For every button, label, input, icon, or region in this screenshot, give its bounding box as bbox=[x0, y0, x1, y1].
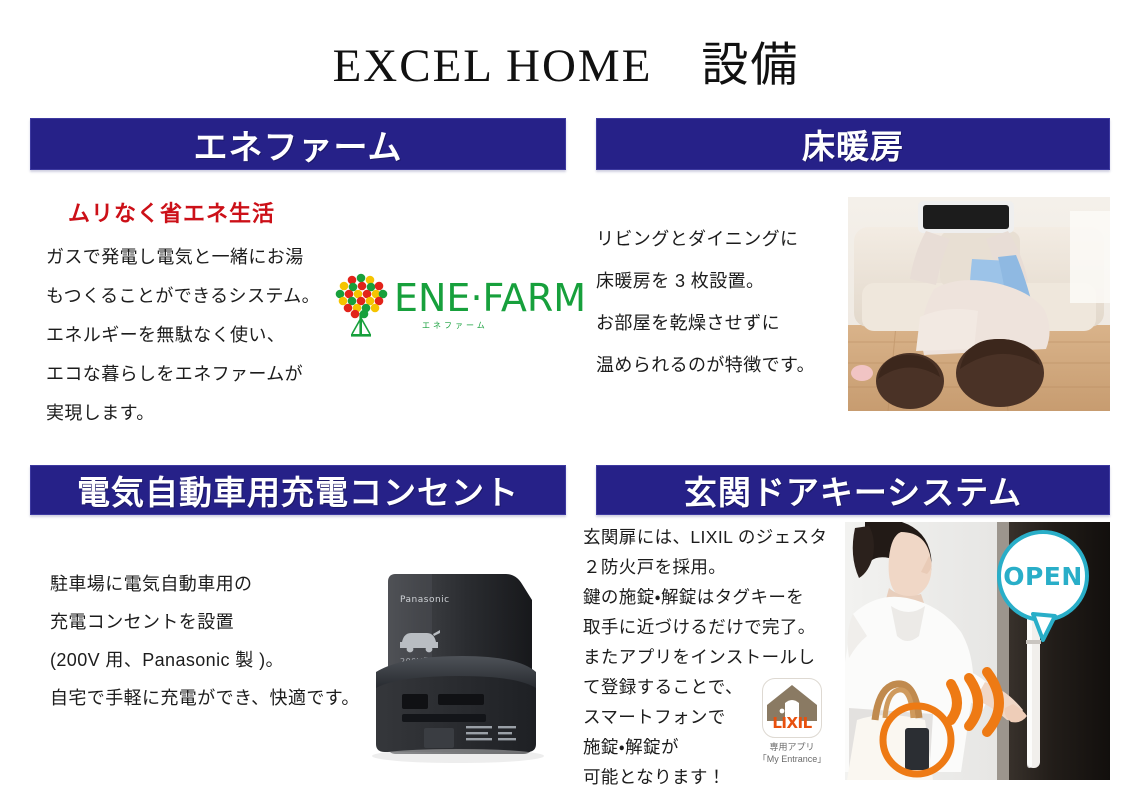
section-header-ev-charger-label: 電気自動車用充電コンセント bbox=[77, 466, 519, 514]
section-header-floor-heating-label: 床暖房 bbox=[802, 120, 904, 168]
section-header-enefarm-label: エネファーム bbox=[194, 120, 403, 169]
enefarm-wordmark-kana: エネファーム bbox=[422, 320, 488, 331]
floor-heating-body-text: リビングとダイニングに 床暖房を 3 枚設置。 お部屋を乾燥させずに 温められる… bbox=[596, 218, 836, 386]
door-key-photo-illustration: OPEN bbox=[845, 522, 1110, 780]
svg-text:Panasonic: Panasonic bbox=[400, 595, 450, 605]
enefarm-logo: ENE·FARM エネファーム bbox=[330, 268, 560, 340]
section-header-enefarm: エネファーム bbox=[30, 118, 566, 170]
lixil-app-icon: LIXIL bbox=[762, 678, 822, 738]
lixil-app-badge: LIXIL 専用アプリ 「My Entrance」 bbox=[756, 678, 828, 765]
floor-heating-photo-illustration bbox=[848, 197, 1110, 411]
enefarm-lead-text: ムリなく省エネ生活 bbox=[68, 196, 275, 228]
floor-heating-photo bbox=[848, 197, 1110, 411]
ev-charger-body-text: 駐車場に電気自動車用の 充電コンセントを設置 (200V 用、Panasonic… bbox=[50, 565, 370, 717]
lixil-app-brand: LIXIL bbox=[763, 714, 821, 732]
lixil-app-caption: 専用アプリ 「My Entrance」 bbox=[756, 741, 828, 765]
section-header-floor-heating: 床暖房 bbox=[596, 118, 1110, 170]
door-key-photo: OPEN bbox=[845, 522, 1110, 780]
ev-charger-photo: Panasonic 200V用 bbox=[368, 560, 568, 780]
section-header-door-key-label: 玄関ドアキーシステム bbox=[684, 466, 1022, 514]
svg-text:OPEN: OPEN bbox=[1003, 562, 1083, 591]
enefarm-body-text: ガスで発電し電気と一緒にお湯 もつくることができるシステム。 エネルギーを無駄な… bbox=[46, 238, 346, 433]
enefarm-wordmark: ENE·FARM bbox=[394, 276, 586, 320]
ev-charger-product-illustration: Panasonic 200V用 bbox=[368, 560, 568, 780]
section-header-ev-charger: 電気自動車用充電コンセント bbox=[30, 465, 566, 515]
section-header-door-key: 玄関ドアキーシステム bbox=[596, 465, 1110, 515]
enefarm-tree-icon bbox=[330, 268, 392, 340]
page-title: EXCEL HOME 設備 bbox=[0, 26, 1132, 95]
